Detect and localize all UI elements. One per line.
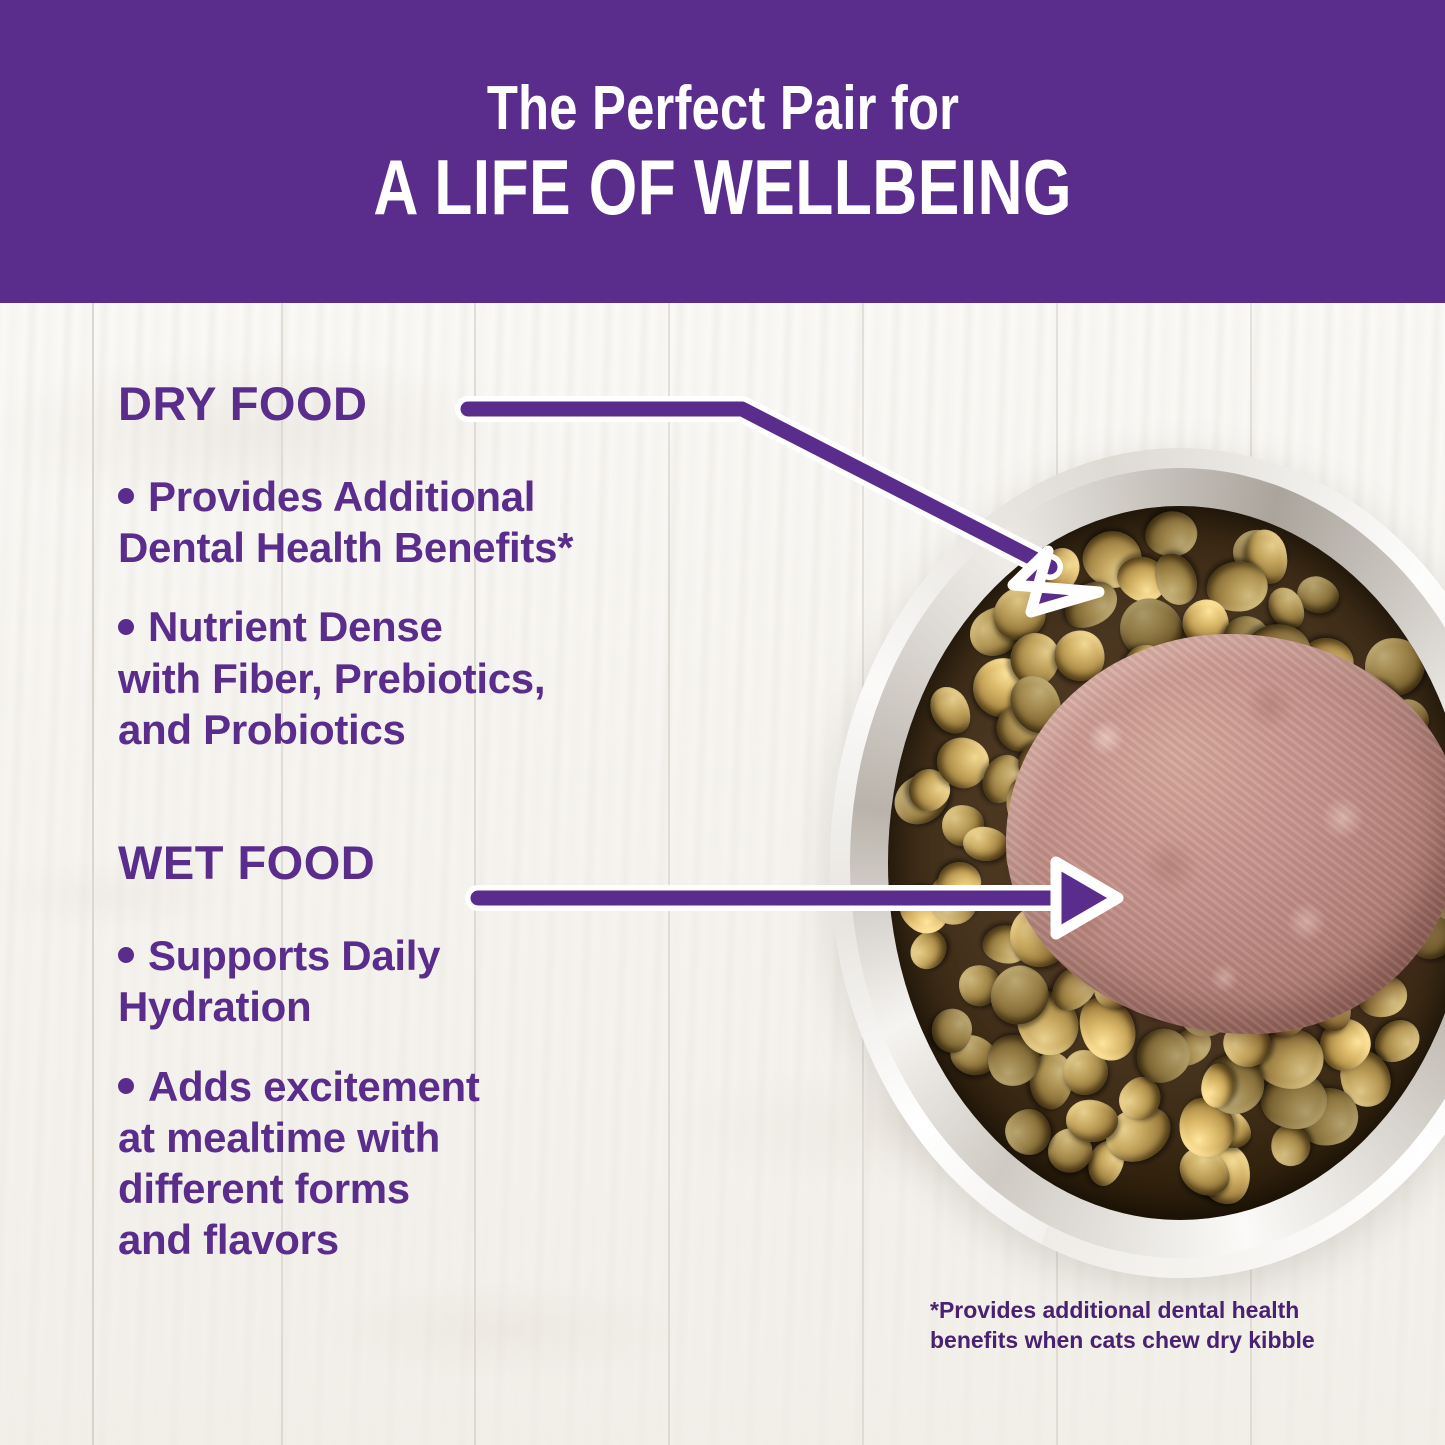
bullet-dot-icon xyxy=(118,619,134,635)
wet-food-pate xyxy=(1006,634,1445,1034)
bullet-text-line: and Probiotics xyxy=(118,706,406,753)
bullet-text-line: Dental Health Benefits* xyxy=(118,524,573,571)
benefits-copy-column: DRY FOOD Provides Additional Dental Heal… xyxy=(118,380,778,1266)
header-banner: The Perfect Pair for A LIFE OF WELLBEING xyxy=(0,0,1445,303)
bullet-text-line: different forms xyxy=(118,1165,410,1212)
wet-food-bullet-list: Supports Daily Hydration Adds excitement… xyxy=(118,930,778,1265)
bullet-text-line: Supports Daily xyxy=(148,932,440,979)
pet-food-bowl-image xyxy=(830,448,1445,1278)
dry-food-bullet-list: Provides Additional Dental Health Benefi… xyxy=(118,471,778,755)
bullet-dot-icon xyxy=(118,947,134,963)
list-item: Nutrient Dense with Fiber, Prebiotics, a… xyxy=(118,601,778,755)
section-heading-wet-food: WET FOOD xyxy=(118,839,778,886)
bowl-interior xyxy=(888,506,1445,1220)
bullet-text-line: and flavors xyxy=(118,1216,339,1263)
bullet-text-line: Provides Additional xyxy=(148,473,535,520)
footnote-line1: *Provides additional dental health xyxy=(930,1296,1360,1326)
bullet-text-line: Hydration xyxy=(118,983,311,1030)
kibble-piece xyxy=(1144,510,1199,558)
header-title-line1: The Perfect Pair for xyxy=(486,77,958,140)
bullet-text-line: at mealtime with xyxy=(118,1114,440,1161)
section-heading-dry-food: DRY FOOD xyxy=(118,380,778,427)
footnote: *Provides additional dental health benef… xyxy=(930,1296,1360,1356)
kibble-piece xyxy=(962,824,1011,862)
kibble-piece xyxy=(923,680,978,740)
bullet-text-line: Adds excitement xyxy=(148,1063,480,1110)
bullet-dot-icon xyxy=(118,488,134,504)
header-title-line2: A LIFE OF WELLBEING xyxy=(373,148,1072,226)
list-item: Adds excitement at mealtime with differe… xyxy=(118,1061,778,1266)
list-item: Supports Daily Hydration xyxy=(118,930,778,1032)
footnote-line2: benefits when cats chew dry kibble xyxy=(930,1326,1360,1356)
product-infographic: The Perfect Pair for A LIFE OF WELLBEING… xyxy=(0,0,1445,1445)
bullet-text-line: Nutrient Dense xyxy=(148,603,443,650)
list-item: Provides Additional Dental Health Benefi… xyxy=(118,471,778,573)
bullet-text-line: with Fiber, Prebiotics, xyxy=(118,655,545,702)
bullet-dot-icon xyxy=(118,1078,134,1094)
